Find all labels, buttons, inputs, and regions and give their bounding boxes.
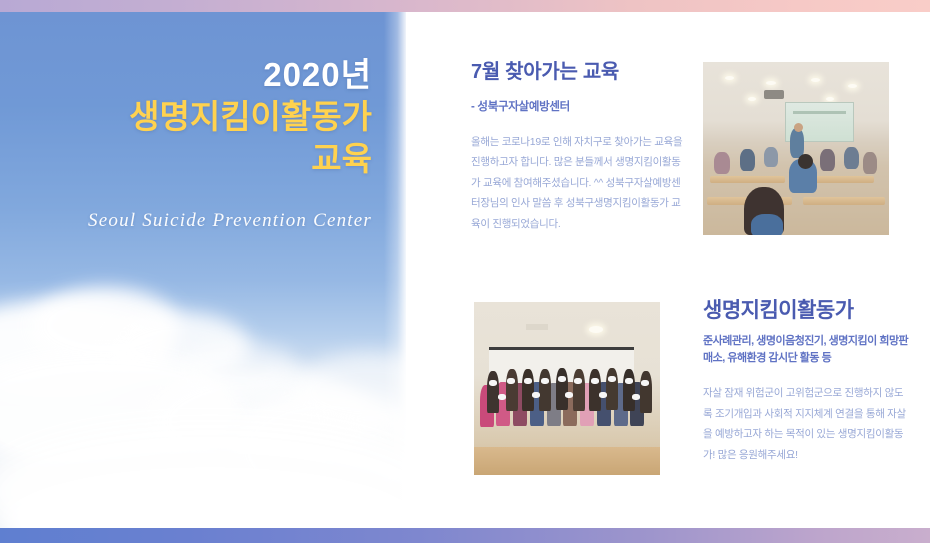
face-mask — [565, 392, 573, 398]
face-mask — [541, 378, 549, 384]
attendee-figure — [820, 149, 835, 171]
organization-script-name: Seoul Suicide Prevention Center — [32, 210, 372, 232]
attendee-figure — [714, 152, 730, 174]
attendee-figure — [863, 152, 877, 174]
desk — [710, 176, 784, 183]
person-figure-back — [522, 369, 534, 411]
attendee-head — [798, 154, 813, 169]
person-figure-back — [487, 371, 499, 413]
classroom-lecture-photo — [703, 62, 889, 235]
face-mask — [532, 392, 540, 398]
ceiling-light — [826, 97, 834, 101]
person-figure-back — [539, 369, 551, 411]
top-text-group: 7월 찾아가는 교육 - 성북구자살예방센터 올해는 코로나19로 인해 자치구… — [471, 60, 686, 234]
attendee-body-foreground — [751, 214, 783, 235]
face-mask — [608, 376, 616, 382]
bottom-body-text: 자살 잠재 위험군이 고위험군으로 진행하지 않도록 조기개입과 사회적 지지체… — [703, 383, 911, 465]
person-figure-back — [623, 369, 635, 411]
face-mask — [599, 392, 607, 398]
face-mask — [498, 394, 506, 400]
slide-title-group: 2020년 생명지킴이활동가 교육 Seoul Suicide Preventi… — [32, 56, 372, 232]
slide-year-label: 2020년 — [32, 56, 372, 94]
presenter-figure — [790, 128, 804, 158]
bottom-content-block: 생명지킴이활동가 준사례관리, 생명이음청진기, 생명지킴이 희망판매소, 유해… — [406, 254, 930, 528]
person-figure-back — [640, 371, 652, 413]
attendee-figure — [844, 147, 859, 169]
face-mask — [632, 394, 640, 400]
panel-edge-fade — [384, 12, 406, 528]
ceiling-light — [725, 76, 734, 80]
top-heading: 7월 찾아가는 교육 — [471, 60, 686, 84]
right-content-panel: 7월 찾아가는 교육 - 성북구자살예방센터 올해는 코로나19로 인해 자치구… — [406, 12, 930, 528]
face-mask — [625, 378, 633, 384]
bottom-text-group: 생명지킴이활동가 준사례관리, 생명이음청진기, 생명지킴이 희망판매소, 유해… — [703, 298, 911, 465]
person-figure-back — [573, 369, 585, 411]
bottom-heading: 생명지킴이활동가 — [703, 298, 911, 323]
slide-main-title-line1: 생명지킴이활동가 — [129, 98, 372, 135]
attendee-figure — [764, 147, 778, 167]
face-mask — [641, 380, 649, 386]
bottom-gradient-border — [0, 528, 930, 543]
person-figure-back — [589, 369, 601, 411]
top-content-block: 7월 찾아가는 교육 - 성북구자살예방센터 올해는 코로나19로 인해 자치구… — [406, 12, 930, 254]
face-mask — [558, 376, 566, 382]
slide-main-title-line2: 교육 — [32, 138, 372, 180]
face-mask — [524, 378, 532, 384]
presenter-head — [794, 123, 803, 132]
top-subheading: - 성북구자살예방센터 — [471, 98, 686, 114]
ceiling-light — [748, 97, 756, 101]
face-mask — [591, 378, 599, 384]
person-figure-back — [556, 368, 568, 410]
person-figure-back — [506, 369, 518, 411]
presentation-slide: 2020년 생명지킴이활동가 교육 Seoul Suicide Preventi… — [0, 0, 930, 543]
ceiling-light — [811, 78, 820, 82]
ceiling-vent — [526, 324, 548, 330]
top-body-text: 올해는 코로나19로 인해 자치구로 찾아가는 교육을 진행하고자 합니다. 많… — [471, 132, 686, 234]
projector — [764, 90, 784, 99]
face-mask — [489, 380, 497, 386]
group-photo — [474, 302, 660, 475]
person-figure-back — [606, 368, 618, 410]
cloud-shape — [180, 342, 300, 398]
floor — [474, 447, 660, 475]
top-gradient-border — [0, 0, 930, 12]
slide-main-title: 생명지킴이활동가 교육 — [32, 96, 372, 180]
desk — [803, 197, 885, 205]
attendee-figure — [740, 149, 755, 171]
left-title-panel: 2020년 생명지킴이활동가 교육 Seoul Suicide Preventi… — [0, 12, 406, 528]
bottom-subheading: 준사례관리, 생명이음청진기, 생명지킴이 희망판매소, 유해환경 감시단 활동… — [703, 333, 911, 367]
